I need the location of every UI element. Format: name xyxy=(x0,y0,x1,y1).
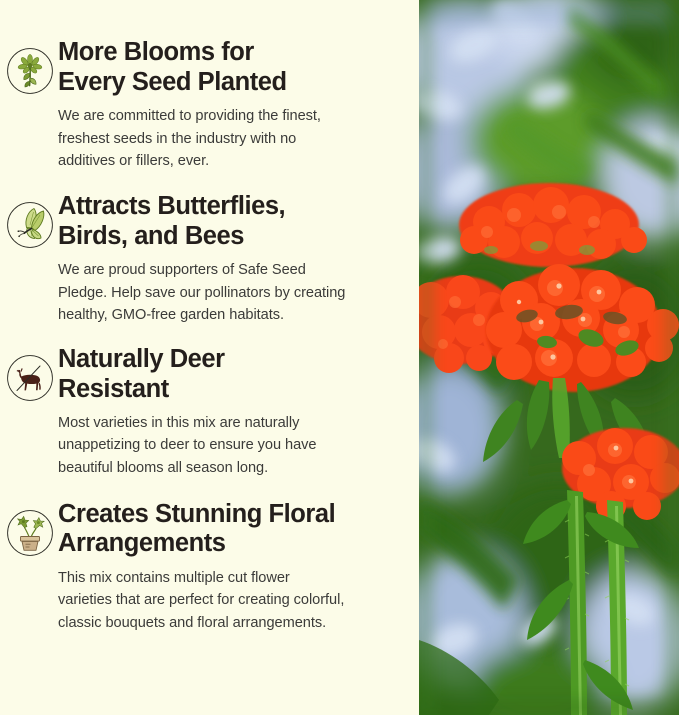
benefit-title: Naturally Deer Resistant xyxy=(58,345,405,404)
benefit-item-more-blooms: More Blooms for Every Seed Planted We ar… xyxy=(0,38,405,172)
benefit-icon-wrap xyxy=(2,500,58,557)
benefit-body: This mix contains multiple cut flower va… xyxy=(58,567,403,634)
benefits-panel: More Blooms for Every Seed Planted We ar… xyxy=(0,0,419,715)
benefit-text: Attracts Butterflies, Birds, and Bees We… xyxy=(58,192,405,326)
photo-artwork xyxy=(419,0,679,715)
benefit-text: Naturally Deer Resistant Most varieties … xyxy=(58,345,405,479)
benefit-body: We are proud supporters of Safe Seed Ple… xyxy=(58,259,403,326)
benefit-icon-wrap xyxy=(2,38,58,95)
flower-sprout-icon xyxy=(6,47,54,95)
benefit-item-deer-resistant: Naturally Deer Resistant Most varieties … xyxy=(0,345,405,479)
benefit-title: Creates Stunning Floral Arrangements xyxy=(58,500,405,559)
benefit-text: Creates Stunning Floral Arrangements Thi… xyxy=(58,500,405,634)
benefit-item-attracts-pollinators: Attracts Butterflies, Birds, and Bees We… xyxy=(0,192,405,326)
potted-plant-icon xyxy=(6,509,54,557)
benefit-icon-wrap xyxy=(2,192,58,249)
maltese-cross-flowers-photo xyxy=(419,0,679,715)
benefit-text: More Blooms for Every Seed Planted We ar… xyxy=(58,38,405,172)
benefit-icon-wrap xyxy=(2,345,58,402)
benefit-item-floral-arrangements: Creates Stunning Floral Arrangements Thi… xyxy=(0,500,405,634)
butterfly-icon xyxy=(6,201,54,249)
benefit-body: We are committed to providing the finest… xyxy=(58,105,403,172)
no-deer-icon xyxy=(6,354,54,402)
benefit-body: Most varieties in this mix are naturally… xyxy=(58,412,403,479)
benefit-title: More Blooms for Every Seed Planted xyxy=(58,38,405,97)
product-benefits-graphic: More Blooms for Every Seed Planted We ar… xyxy=(0,0,679,715)
benefit-title: Attracts Butterflies, Birds, and Bees xyxy=(58,192,405,251)
